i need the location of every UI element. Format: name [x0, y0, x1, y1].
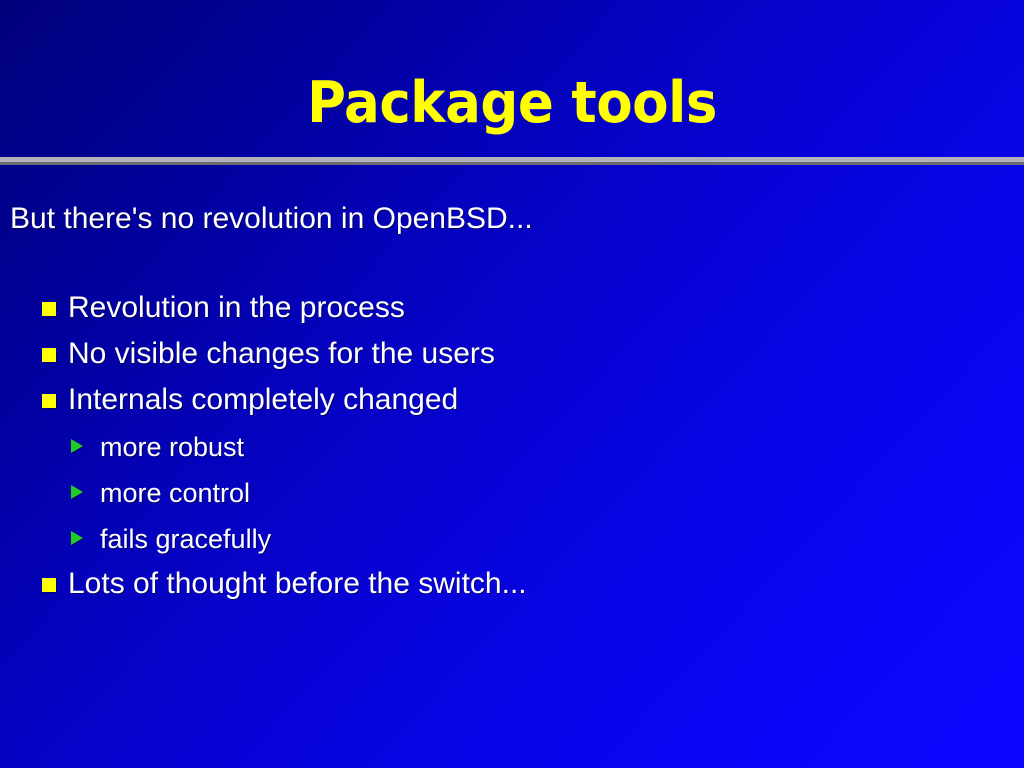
list-item-label: more control — [100, 474, 250, 512]
title-divider-shadow — [0, 162, 1024, 165]
triangle-bullet-icon — [71, 439, 83, 453]
presentation-slide: Package tools But there's no revolution … — [0, 0, 1024, 768]
list-item: more control — [0, 470, 1024, 516]
list-item: Lots of thought before the switch... — [0, 562, 1024, 608]
slide-title-area: Package tools — [0, 0, 1024, 158]
list-item-label: No visible changes for the users — [68, 334, 495, 374]
triangle-bullet-icon — [71, 531, 83, 545]
list-item: more robust — [0, 424, 1024, 470]
list-item-label: more robust — [100, 428, 244, 466]
list-item: Revolution in the process — [0, 286, 1024, 332]
bullet-list: Revolution in the processNo visible chan… — [0, 286, 1024, 608]
list-item-label: fails gracefully — [100, 520, 271, 558]
slide-body: But there's no revolution in OpenBSD... … — [0, 166, 1024, 768]
list-item-label: Lots of thought before the switch... — [68, 564, 527, 604]
intro-text: But there's no revolution in OpenBSD... — [10, 200, 533, 238]
page-title: Package tools — [36, 72, 988, 134]
list-item: No visible changes for the users — [0, 332, 1024, 378]
square-bullet-icon — [42, 394, 56, 408]
list-item-label: Internals completely changed — [68, 380, 458, 420]
list-item: fails gracefully — [0, 516, 1024, 562]
triangle-bullet-icon — [71, 485, 83, 499]
square-bullet-icon — [42, 302, 56, 316]
list-item-label: Revolution in the process — [68, 288, 405, 328]
list-item: Internals completely changed — [0, 378, 1024, 424]
square-bullet-icon — [42, 578, 56, 592]
square-bullet-icon — [42, 348, 56, 362]
